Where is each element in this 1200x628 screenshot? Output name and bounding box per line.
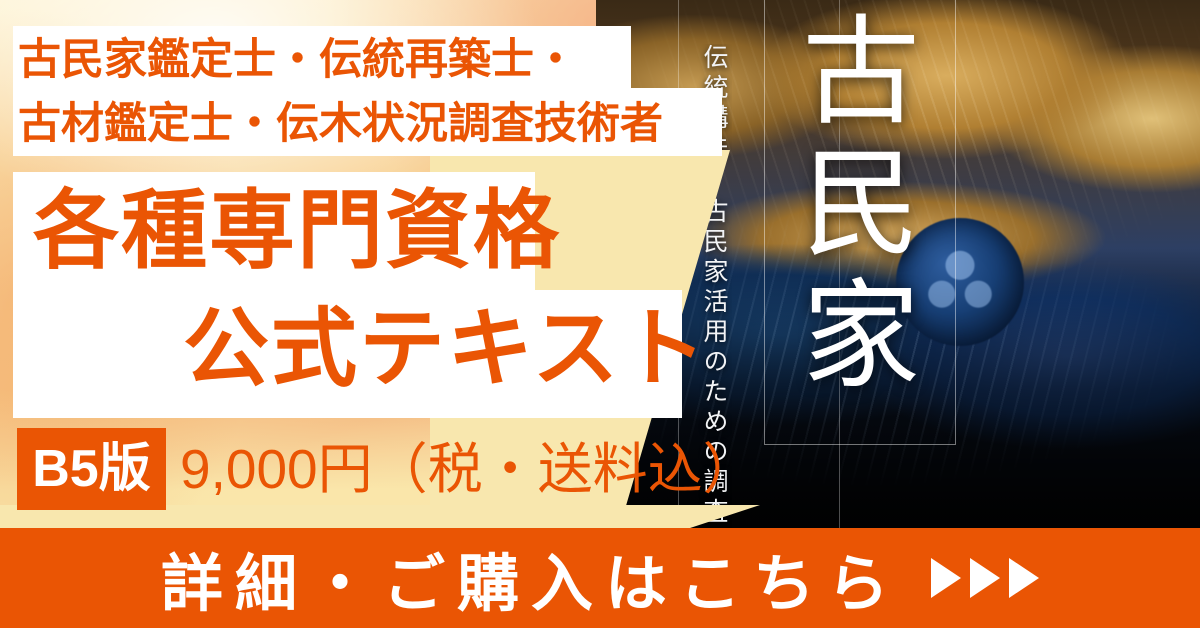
cta-bar[interactable]: 詳細・ご購入はこちら: [0, 528, 1200, 628]
triangle-right-icon: [1009, 558, 1039, 598]
headline-small: 古民家鑑定士・伝統再築士・ 古材鑑定士・伝木状況調査技術者: [18, 28, 724, 156]
headline-big-line1: 各種専門資格: [13, 172, 693, 290]
headline-small-line1: 古民家鑑定士・伝統再築士・: [18, 28, 724, 92]
cover-title-char-3: 家: [782, 270, 942, 402]
triangle-right-icon: [931, 558, 961, 598]
cover-title-char-1: 古: [782, 6, 942, 138]
cta-label: 詳細・ご購入はこちら: [161, 533, 901, 623]
headline-big: 各種専門資格 公式テキスト: [13, 172, 693, 408]
cta-arrows: [931, 558, 1039, 598]
cover-title-char-2: 民: [782, 138, 942, 270]
format-badge: B5版: [17, 428, 166, 510]
headline-big-line2: 公式テキスト: [13, 290, 693, 408]
headline-small-line2: 古材鑑定士・伝木状況調査技術者: [18, 92, 724, 156]
price-text: 9,000円（税・送料込）: [180, 428, 758, 510]
promo-banner: 古 民 家 伝統構法 古民家活用のための調査と再生の 古民家鑑定士・伝統再築士・…: [0, 0, 1200, 628]
triangle-right-icon: [970, 558, 1000, 598]
cover-title: 古 民 家: [782, 6, 942, 402]
